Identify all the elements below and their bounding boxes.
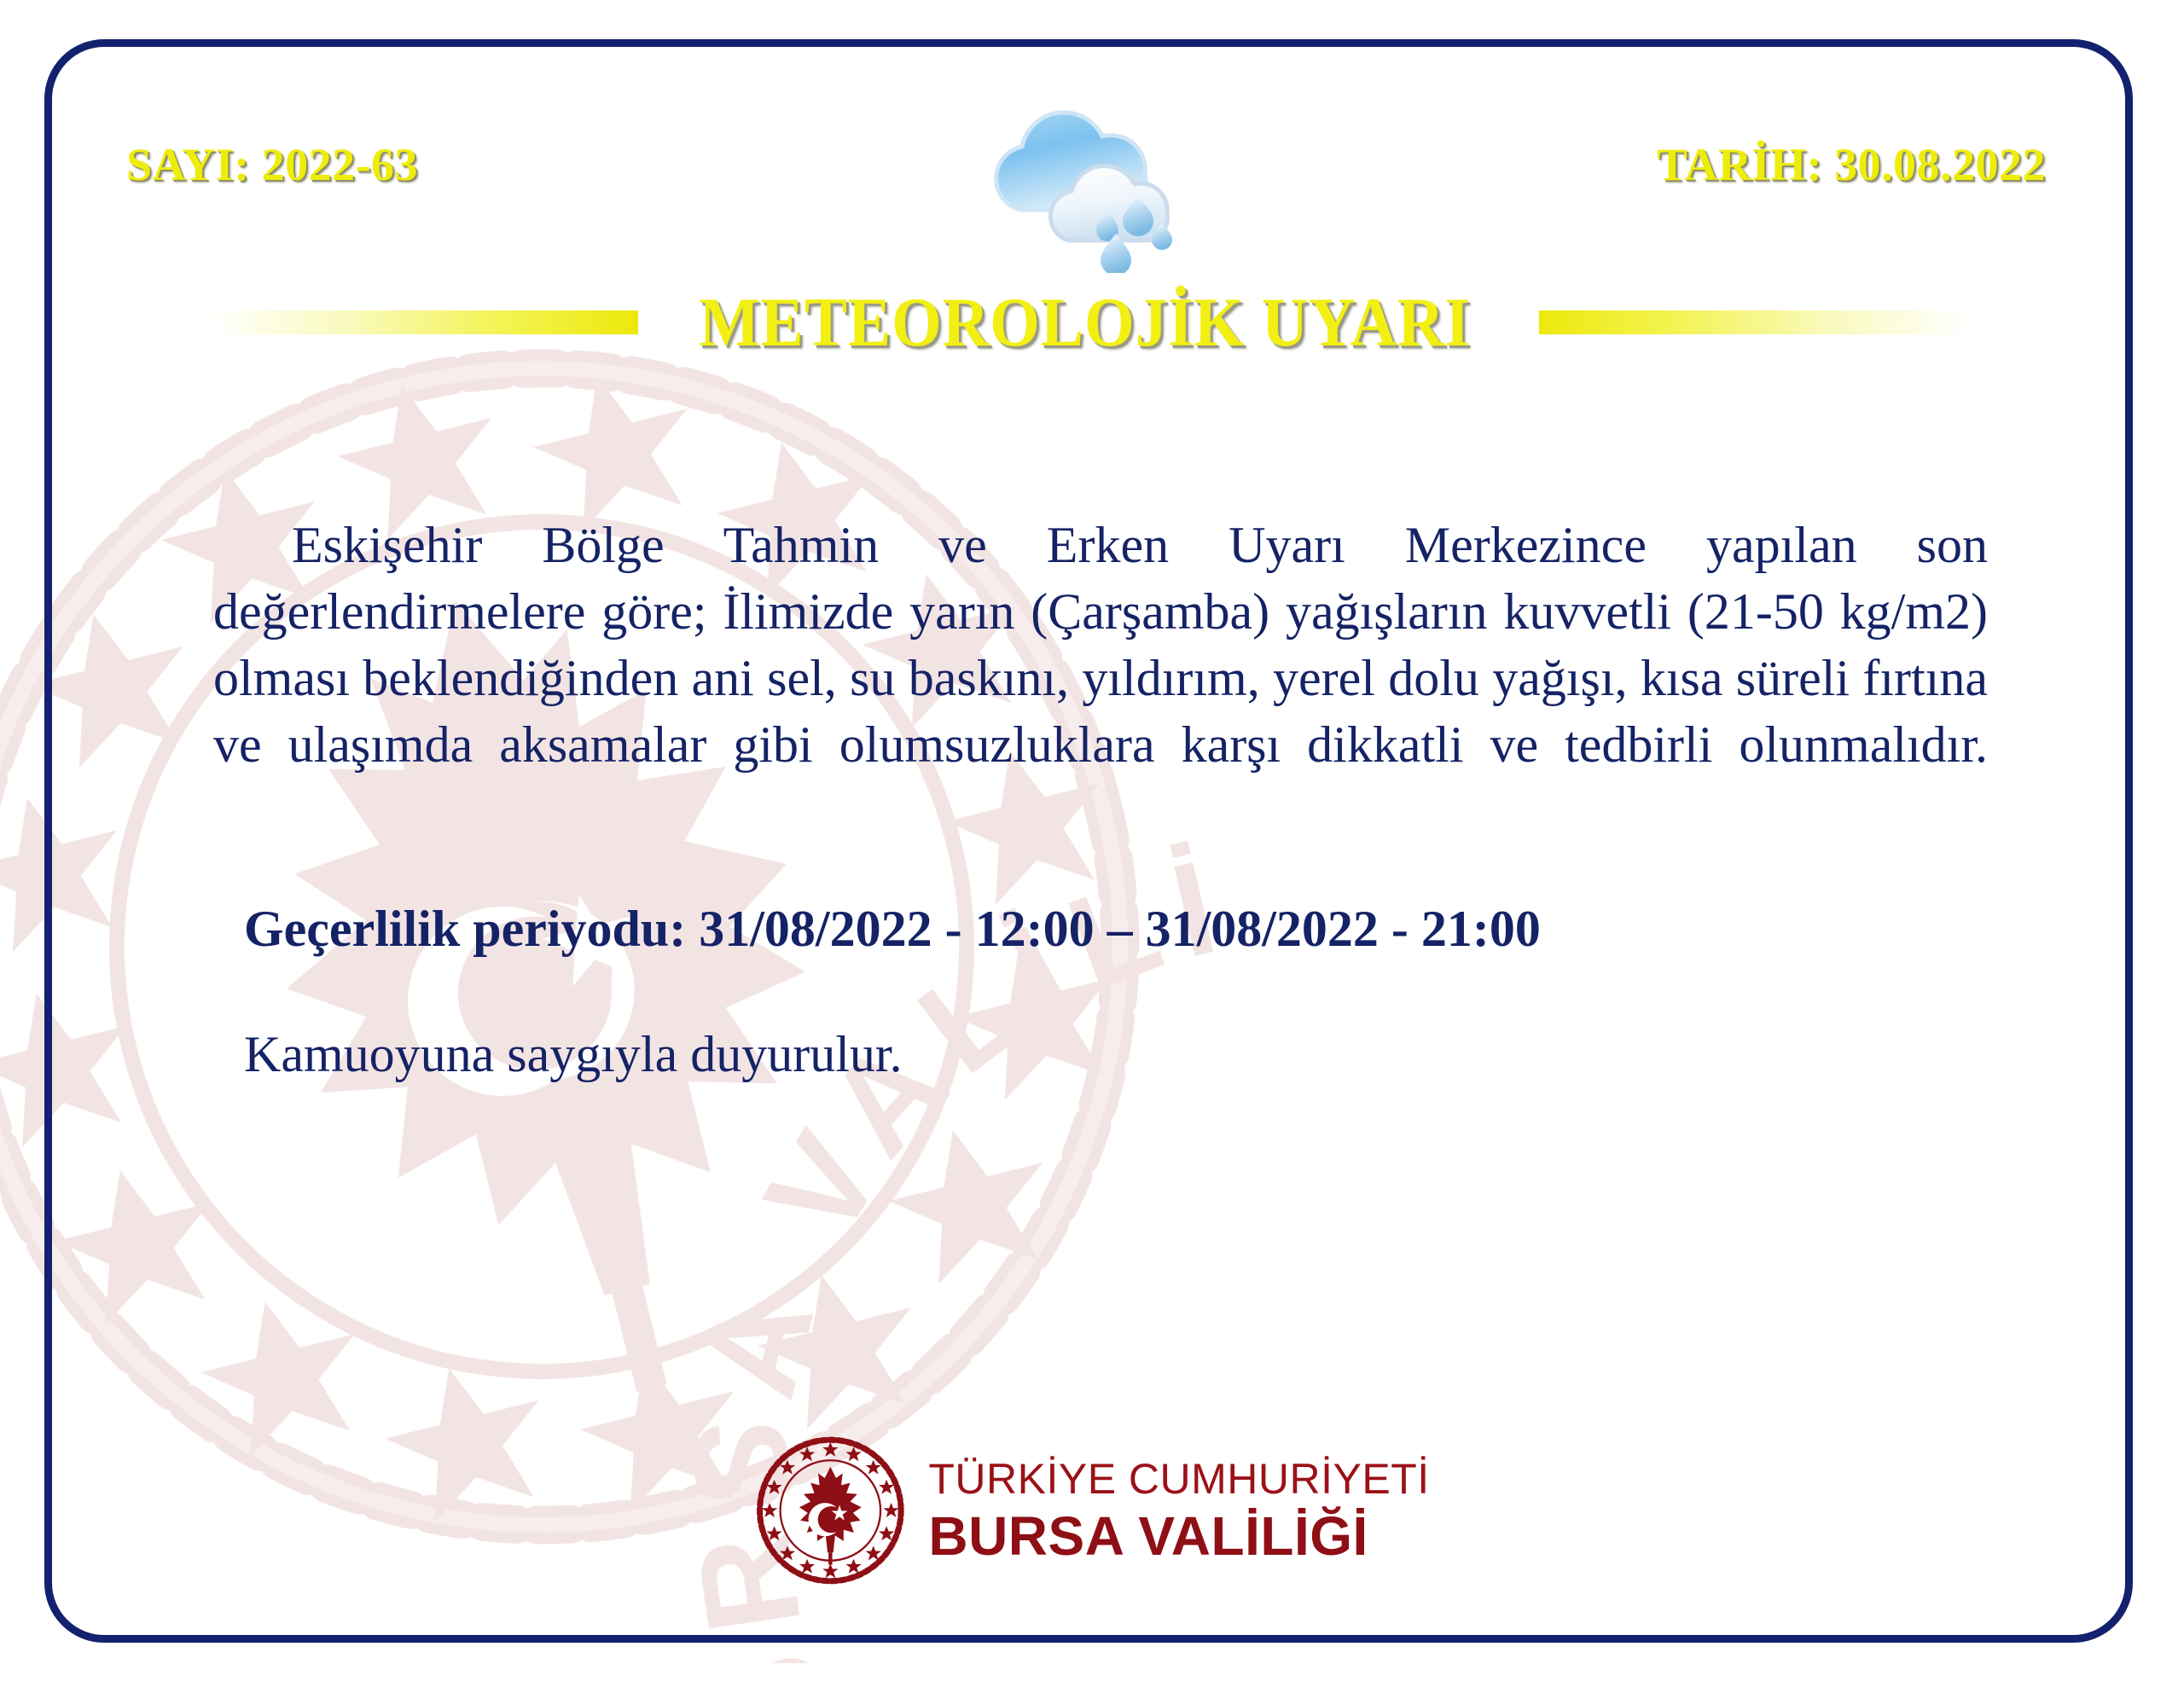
issue-number-label: SAYI: 2022-63 bbox=[126, 138, 418, 191]
page-title: METEOROLOJİK UYARI bbox=[700, 287, 1472, 357]
issue-date-label: TARİH: 30.08.2022 bbox=[1657, 138, 2046, 191]
title-banner: METEOROLOJİK UYARI bbox=[44, 271, 2133, 374]
document-header: SAYI: 2022-63 bbox=[44, 102, 2133, 264]
footer-logo-line-2: BURSA VALİLİĞİ bbox=[928, 1509, 1429, 1563]
footer-logo: TÜRKİYE CUMHURİYETİ BURSA VALİLİĞİ bbox=[754, 1435, 1429, 1586]
footer-logo-text: TÜRKİYE CUMHURİYETİ BURSA VALİLİĞİ bbox=[928, 1458, 1429, 1563]
closing-line: Kamuoyuna saygıyla duyurulur. bbox=[244, 1023, 1988, 1087]
turkish-republic-emblem-icon bbox=[754, 1435, 906, 1586]
validity-period-line: Geçerlilik periyodu: 31/08/2022 - 12:00 … bbox=[244, 897, 1988, 961]
notice-body: Eskişehir Bölge Tahmin ve Erken Uyarı Me… bbox=[213, 512, 1988, 1087]
footer-logo-line-1: TÜRKİYE CUMHURİYETİ bbox=[928, 1458, 1429, 1500]
warning-paragraph: Eskişehir Bölge Tahmin ve Erken Uyarı Me… bbox=[213, 512, 1988, 844]
title-rule-left bbox=[212, 310, 638, 334]
rain-cloud-icon bbox=[961, 97, 1217, 273]
title-rule-right bbox=[1539, 310, 1966, 334]
